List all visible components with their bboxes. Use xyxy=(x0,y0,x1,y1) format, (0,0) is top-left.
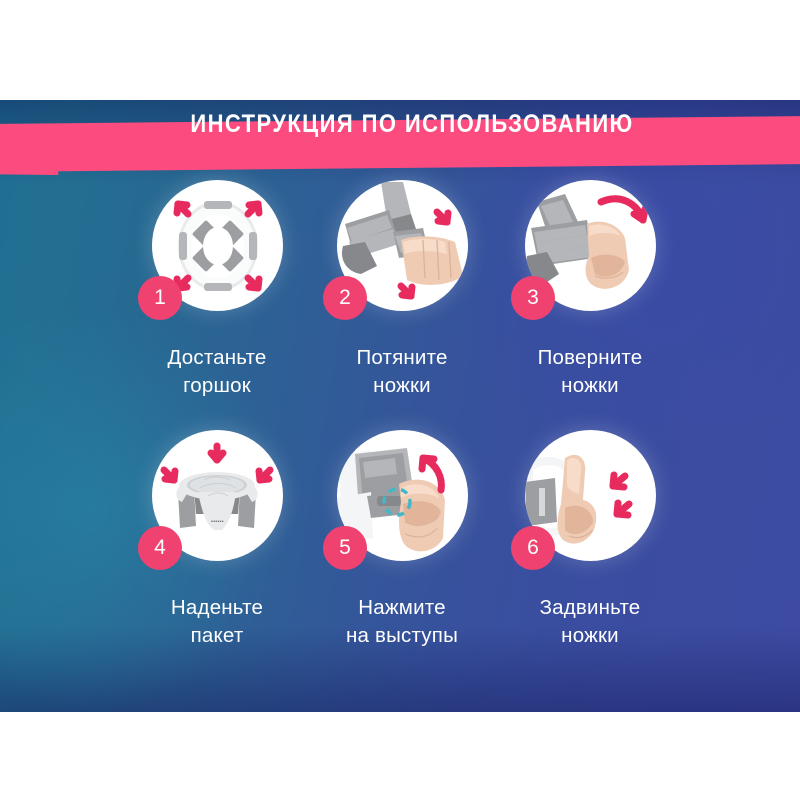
step-4: ▪▪▪▪▪▪ 4 Наденьте пакет xyxy=(124,428,310,651)
step-6-number: 6 xyxy=(511,526,555,570)
step-3: 3 Поверните ножки xyxy=(497,178,683,401)
step-3-label: Поверните ножки xyxy=(497,344,683,401)
step-1-media: 1 xyxy=(124,178,310,338)
step-6-label-line2: ножки xyxy=(497,622,683,650)
step-1-label-line2: горшок xyxy=(124,372,310,400)
infographic-canvas: ИНСТРУКЦИЯ ПО ИСПОЛЬЗОВАНИЮ xyxy=(0,0,800,800)
step-4-label-line2: пакет xyxy=(124,622,310,650)
step-4-media: ▪▪▪▪▪▪ 4 xyxy=(124,428,310,588)
page-title: ИНСТРУКЦИЯ ПО ИСПОЛЬЗОВАНИЮ xyxy=(49,100,774,148)
step-5-media: 5 xyxy=(309,428,495,588)
step-4-label: Наденьте пакет xyxy=(124,594,310,651)
step-5-label-line2: на выступы xyxy=(309,622,495,650)
step-1-number: 1 xyxy=(138,276,182,320)
step-6-label: Задвиньте ножки xyxy=(497,594,683,651)
step-2-label-line1: Потяните xyxy=(309,344,495,372)
step-2-label-line2: ножки xyxy=(309,372,495,400)
step-2: 2 Потяните ножки xyxy=(309,178,495,401)
step-1-label: Достаньте горшок xyxy=(124,344,310,401)
step-3-label-line1: Поверните xyxy=(497,344,683,372)
steps-grid: 1 Достаньте горшок xyxy=(0,178,800,698)
step-3-label-line2: ножки xyxy=(497,372,683,400)
step-2-label: Потяните ножки xyxy=(309,344,495,401)
artwork-panel: ИНСТРУКЦИЯ ПО ИСПОЛЬЗОВАНИЮ xyxy=(0,100,800,712)
step-4-number: 4 xyxy=(138,526,182,570)
step-5-label-line1: Нажмите xyxy=(309,594,495,622)
step-6-label-line1: Задвиньте xyxy=(497,594,683,622)
product-wordmark: ▪▪▪▪▪▪ xyxy=(211,519,224,525)
step-5-number: 5 xyxy=(323,526,367,570)
step-3-media: 3 xyxy=(497,178,683,338)
step-5-label: Нажмите на выступы xyxy=(309,594,495,651)
step-6: 6 Задвиньте ножки xyxy=(497,428,683,651)
step-5: 5 Нажмите на выступы xyxy=(309,428,495,651)
step-4-label-line1: Наденьте xyxy=(124,594,310,622)
step-2-number: 2 xyxy=(323,276,367,320)
banner-edge-nick xyxy=(0,169,58,175)
step-1-label-line1: Достаньте xyxy=(124,344,310,372)
step-3-number: 3 xyxy=(511,276,555,320)
step-2-media: 2 xyxy=(309,178,495,338)
step-1: 1 Достаньте горшок xyxy=(124,178,310,401)
step-6-media: 6 xyxy=(497,428,683,588)
